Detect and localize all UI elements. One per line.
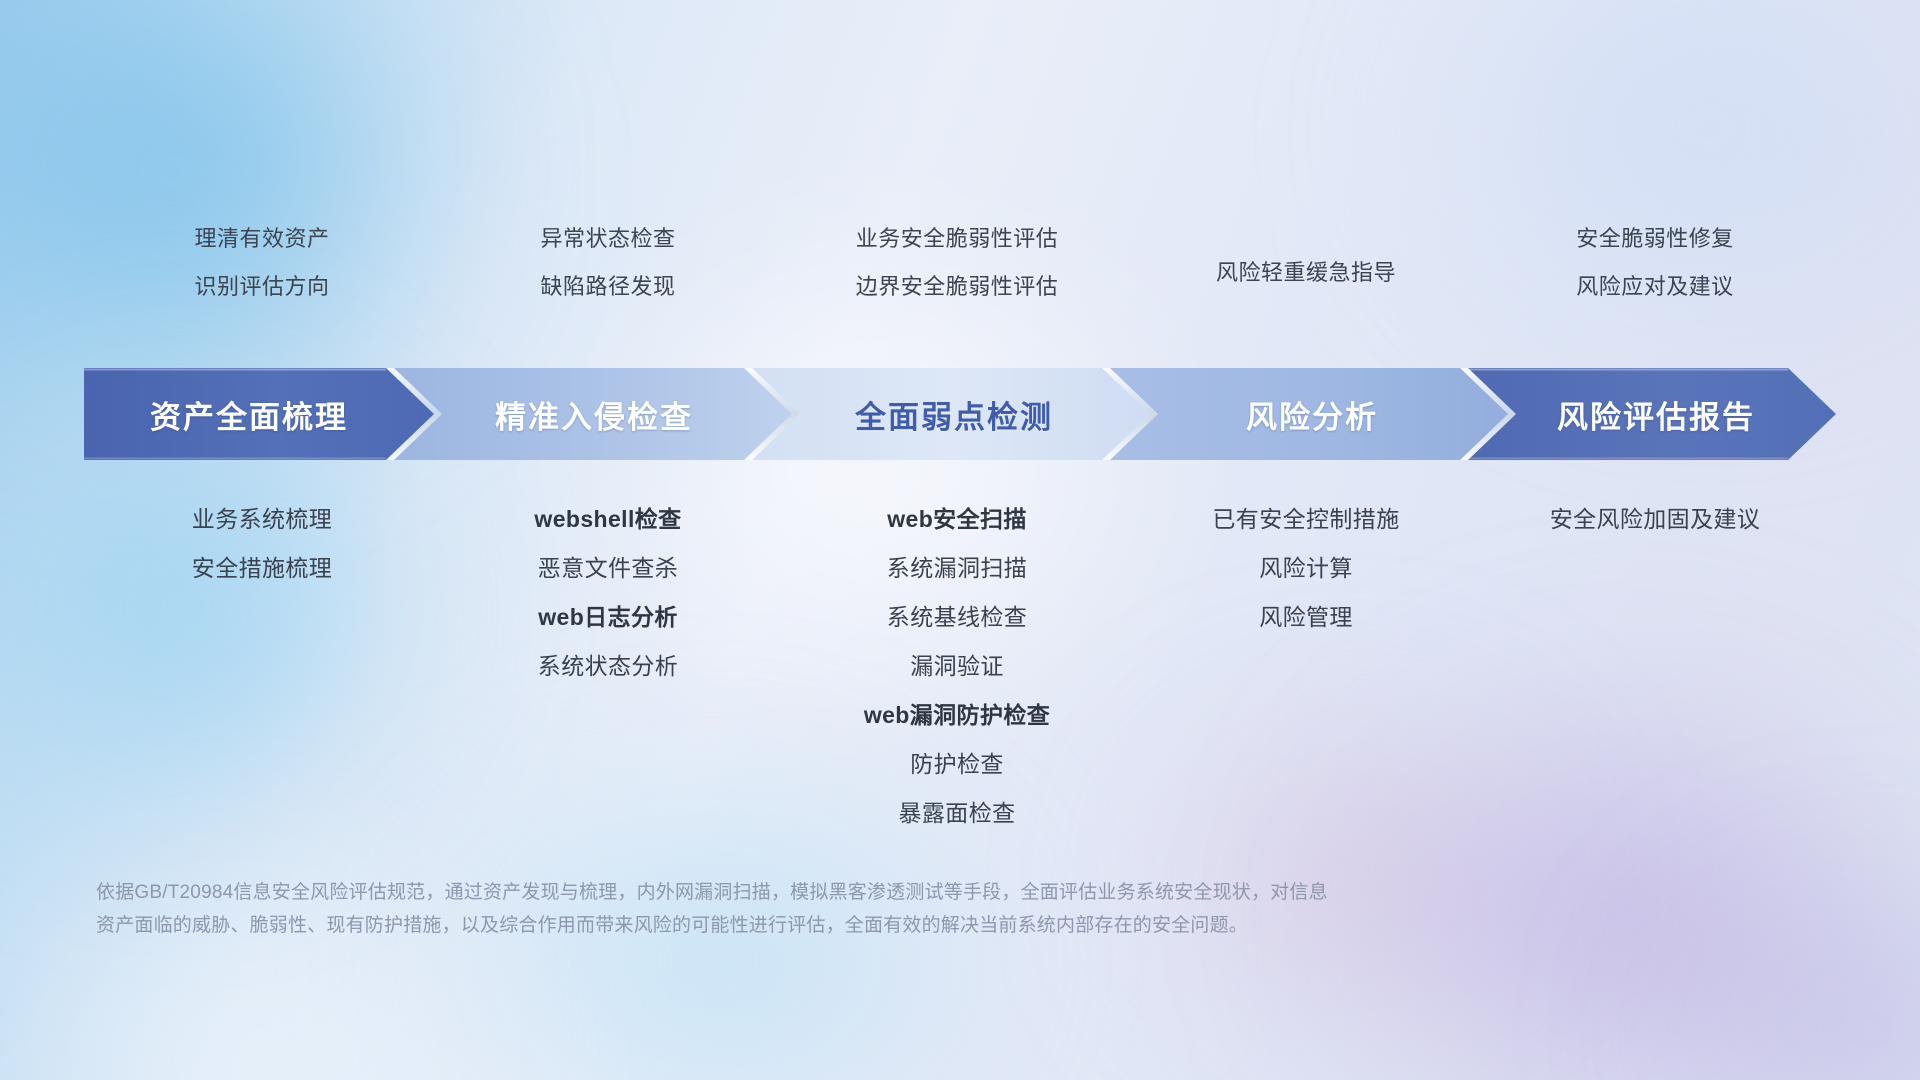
bottom-descriptor-row: 业务系统梳理 安全措施梳理 webshell检查 恶意文件查杀 web日志分析 … — [90, 508, 1830, 851]
bottom-group-weakness-detection: web安全扫描 系统漏洞扫描 系统基线检查 漏洞验证 web漏洞防护检查 防护检… — [782, 508, 1132, 851]
top-item: 业务安全脆弱性评估 — [856, 228, 1059, 250]
bottom-item: 系统基线检查 — [887, 606, 1027, 629]
top-descriptor-row: 理清有效资产 识别评估方向 异常状态检查 缺陷路径发现 业务安全脆弱性评估 边界… — [90, 228, 1830, 298]
bottom-item: 漏洞验证 — [910, 655, 1004, 678]
top-group-intrusion-check: 异常状态检查 缺陷路径发现 — [434, 228, 782, 298]
top-item: 识别评估方向 — [194, 276, 329, 298]
bottom-group-intrusion-check: webshell检查 恶意文件查杀 web日志分析 系统状态分析 — [434, 508, 782, 704]
bottom-item: 安全措施梳理 — [192, 557, 332, 580]
diagram-content: 理清有效资产 识别评估方向 异常状态检查 缺陷路径发现 业务安全脆弱性评估 边界… — [0, 0, 1920, 1080]
bottom-group-assessment-report: 安全风险加固及建议 — [1480, 508, 1830, 557]
process-chevron-banner: 资产全面梳理 精准入侵检查 全面弱点检测 风险分析 风险评估报告 — [84, 368, 1836, 460]
top-item: 风险轻重缓急指导 — [1216, 262, 1396, 284]
bottom-item: 暴露面检查 — [899, 802, 1016, 825]
top-item: 边界安全脆弱性评估 — [856, 276, 1059, 298]
bottom-item: 风险计算 — [1259, 557, 1353, 580]
top-item: 风险应对及建议 — [1576, 276, 1734, 298]
bottom-item: web漏洞防护检查 — [864, 704, 1050, 727]
bottom-item: 系统漏洞扫描 — [887, 557, 1027, 580]
bottom-item: 风险管理 — [1259, 606, 1353, 629]
top-item: 理清有效资产 — [194, 228, 329, 250]
top-item: 安全脆弱性修复 — [1576, 228, 1734, 250]
bottom-item: 恶意文件查杀 — [538, 557, 678, 580]
footer-description: 依据GB/T20984信息安全风险评估规范，通过资产发现与梳理，内外网漏洞扫描，… — [96, 876, 1736, 942]
bottom-item: 安全风险加固及建议 — [1550, 508, 1761, 531]
bottom-group-asset-inventory: 业务系统梳理 安全措施梳理 — [90, 508, 434, 606]
top-group-assessment-report: 安全脆弱性修复 风险应对及建议 — [1480, 228, 1830, 298]
bottom-item: 已有安全控制措施 — [1212, 508, 1399, 531]
bottom-item: 系统状态分析 — [538, 655, 678, 678]
footer-line-1: 依据GB/T20984信息安全风险评估规范，通过资产发现与梳理，内外网漏洞扫描，… — [96, 876, 1736, 909]
bottom-item: web安全扫描 — [887, 508, 1027, 531]
top-item: 异常状态检查 — [540, 228, 675, 250]
bottom-item: web日志分析 — [538, 606, 678, 629]
footer-line-2: 资产面临的威胁、脆弱性、现有防护措施，以及综合作用而带来风险的可能性进行评估，全… — [96, 909, 1736, 942]
top-group-weakness-detection: 业务安全脆弱性评估 边界安全脆弱性评估 — [782, 228, 1132, 298]
top-item: 缺陷路径发现 — [540, 276, 675, 298]
bottom-item: 防护检查 — [910, 753, 1004, 776]
top-group-asset-inventory: 理清有效资产 识别评估方向 — [90, 228, 434, 298]
bottom-item: webshell检查 — [534, 508, 681, 531]
bottom-group-risk-analysis: 已有安全控制措施 风险计算 风险管理 — [1132, 508, 1480, 655]
bottom-item: 业务系统梳理 — [192, 508, 332, 531]
top-group-risk-analysis: 风险轻重缓急指导 — [1132, 228, 1480, 298]
